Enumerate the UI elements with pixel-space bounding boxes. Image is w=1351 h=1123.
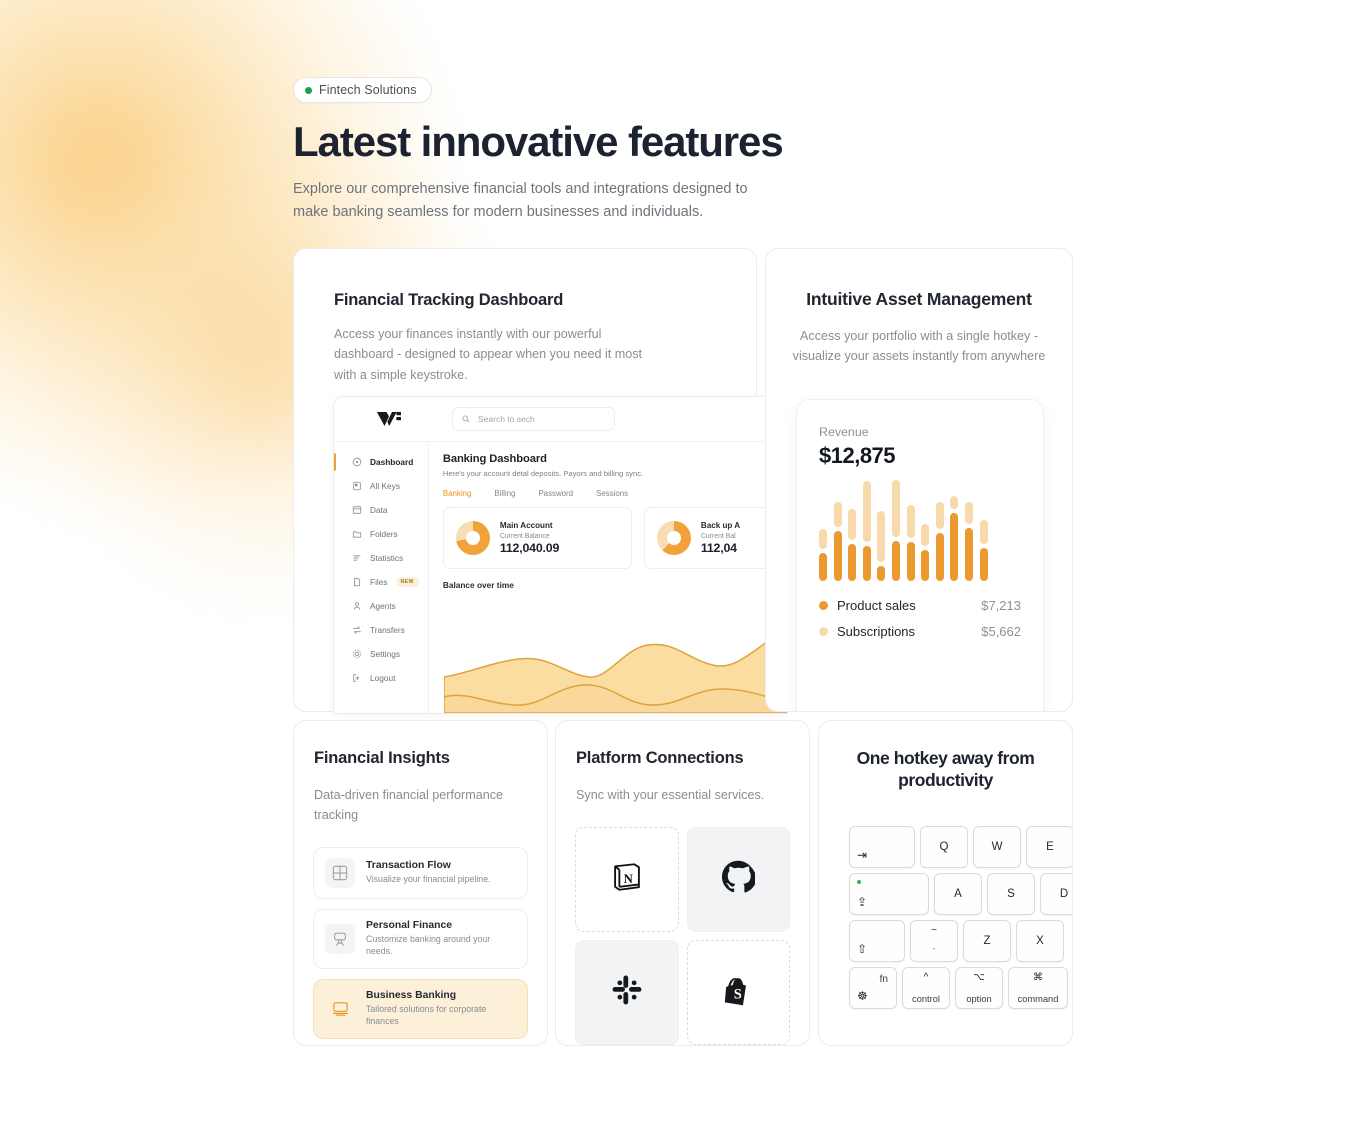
card2-subtitle: Access your portfolio with a single hotk… bbox=[788, 326, 1050, 367]
card2-title: Intuitive Asset Management bbox=[788, 289, 1050, 310]
key-z[interactable]: Z bbox=[963, 920, 1011, 962]
bar-column bbox=[863, 489, 871, 581]
monitor-icon bbox=[325, 994, 355, 1024]
legend-row-product-sales: Product sales $7,213 bbox=[819, 598, 1021, 613]
dashboard-icon bbox=[352, 457, 362, 467]
card-intuitive-asset-management: Intuitive Asset Management Access your p… bbox=[765, 248, 1073, 712]
account-balance-label: Current Bal bbox=[701, 533, 740, 540]
list-item-title: Personal Finance bbox=[366, 920, 516, 931]
key-label: D bbox=[1060, 888, 1068, 900]
bar-column bbox=[834, 489, 842, 581]
card3-title: Financial Insights bbox=[314, 749, 527, 768]
bar-segment-subscriptions bbox=[950, 496, 958, 509]
list-item-title: Transaction Flow bbox=[366, 860, 491, 871]
user-icon bbox=[325, 924, 355, 954]
chart-legend: Product sales $7,213 Subscriptions $5,66… bbox=[819, 598, 1021, 639]
bar-segment-subscriptions bbox=[980, 520, 988, 544]
key-label: control bbox=[903, 994, 949, 1004]
key-label: W bbox=[992, 841, 1003, 853]
bar-segment-product-sales bbox=[936, 533, 944, 581]
bar-column bbox=[965, 489, 973, 581]
tab-arrow-icon: ⇥ bbox=[857, 848, 867, 862]
capslock-key[interactable]: ⇪ bbox=[849, 873, 929, 915]
revenue-value: $12,875 bbox=[819, 443, 1021, 469]
sidebar-label: Settings bbox=[370, 649, 400, 659]
legend-value: $7,213 bbox=[981, 598, 1021, 613]
legend-label: Product sales bbox=[837, 598, 916, 613]
key-q[interactable]: Q bbox=[920, 826, 968, 868]
donut-chart-icon bbox=[657, 521, 691, 555]
sidebar-label: All Keys bbox=[370, 481, 400, 491]
bar-column bbox=[921, 489, 929, 581]
tile-notion[interactable]: N bbox=[575, 827, 679, 932]
fn-key[interactable]: fn ☸ bbox=[849, 967, 897, 1009]
sidebar-label: Files bbox=[370, 577, 388, 587]
account-cards: Main Account Current Balance 112,040.09 … bbox=[443, 507, 788, 569]
list-item-transaction-flow[interactable]: Transaction Flow Visualize your financia… bbox=[313, 847, 528, 899]
bar-segment-subscriptions bbox=[892, 480, 900, 537]
donut-chart-icon bbox=[456, 521, 490, 555]
card4-subtitle: Sync with your essential services. bbox=[576, 785, 789, 805]
notion-logo-icon: N bbox=[610, 860, 644, 899]
revenue-label: Revenue bbox=[819, 425, 1021, 439]
agents-icon bbox=[352, 601, 362, 611]
bar-segment-product-sales bbox=[877, 566, 885, 581]
key-s[interactable]: S bbox=[987, 873, 1035, 915]
data-icon bbox=[352, 505, 362, 515]
bar-segment-subscriptions bbox=[863, 481, 871, 542]
key-x[interactable]: X bbox=[1016, 920, 1064, 962]
keyboard-row-2: ⇪ A S D bbox=[849, 873, 1073, 915]
tab-banking[interactable]: Banking bbox=[443, 489, 472, 498]
status-dot-icon bbox=[305, 87, 312, 94]
account-balance-value: 112,040.09 bbox=[500, 541, 559, 555]
grid-icon bbox=[325, 858, 355, 888]
mockup-tabs: Banking Billing Password Sessions bbox=[443, 489, 788, 498]
card3-header: Financial Insights Data-driven financial… bbox=[294, 721, 547, 826]
revenue-panel: Revenue $12,875 Product sales $7,213 Sub… bbox=[796, 399, 1044, 712]
capslock-arrow-icon: ⇪ bbox=[857, 895, 867, 909]
globe-icon: ☸ bbox=[857, 989, 868, 1003]
bar-segment-product-sales bbox=[819, 553, 827, 581]
insights-list: Transaction Flow Visualize your financia… bbox=[294, 847, 547, 1039]
bar-segment-product-sales bbox=[907, 542, 915, 581]
page-root: Fintech Solutions Latest innovative feat… bbox=[0, 0, 1351, 1123]
shift-key[interactable]: ⇧ bbox=[849, 920, 905, 962]
search-input[interactable]: Search to sech bbox=[452, 407, 615, 431]
keyboard-row-1: ⇥ Q W E bbox=[849, 826, 1073, 868]
keys-icon bbox=[352, 481, 362, 491]
dashboard-mockup: Search to sech Dashboard All Keys bbox=[333, 396, 788, 714]
shift-arrow-icon: ⇧ bbox=[857, 942, 867, 956]
shopify-logo-icon: S bbox=[721, 973, 755, 1012]
mockup-sidebar: Dashboard All Keys Data bbox=[334, 442, 429, 714]
keyboard: ⇥ Q W E ⇪ A S D ⇧ ~ ` Z bbox=[849, 826, 1073, 1014]
bar-column bbox=[877, 489, 885, 581]
tab-billing[interactable]: Billing bbox=[494, 489, 515, 498]
list-item-desc: Customize banking around your needs. bbox=[366, 933, 516, 958]
mockup-search-area: Search to sech bbox=[444, 407, 787, 431]
tile-shopify[interactable]: S bbox=[687, 940, 791, 1045]
logout-icon bbox=[352, 673, 362, 683]
list-item-desc: Visualize your financial pipeline. bbox=[366, 873, 491, 885]
control-key[interactable]: ^ control bbox=[902, 967, 950, 1009]
command-key[interactable]: ⌘ command bbox=[1008, 967, 1068, 1009]
balance-chart-label: Balance over time bbox=[443, 580, 788, 590]
sidebar-label: Transfers bbox=[370, 625, 405, 635]
sidebar-item-all-keys[interactable]: All Keys bbox=[334, 474, 428, 498]
bar-segment-product-sales bbox=[834, 531, 842, 581]
transfers-icon bbox=[352, 625, 362, 635]
page-subtitle: Explore our comprehensive financial tool… bbox=[293, 178, 753, 223]
page-header: Fintech Solutions Latest innovative feat… bbox=[293, 77, 1093, 223]
bar-column bbox=[848, 489, 856, 581]
svg-text:N: N bbox=[623, 872, 633, 886]
key-label-top: ~ bbox=[911, 925, 957, 936]
mockup-description: Here's your account detal deposits. Payo… bbox=[443, 469, 788, 478]
mockup-heading: Banking Dashboard bbox=[443, 453, 788, 465]
tile-slack[interactable] bbox=[575, 940, 679, 1045]
card5-title: One hotkey away from productivity bbox=[819, 747, 1072, 792]
page-title: Latest innovative features bbox=[293, 119, 1093, 164]
key-label: E bbox=[1046, 841, 1054, 853]
bar-segment-product-sales bbox=[848, 544, 856, 581]
bar-column bbox=[980, 489, 988, 581]
key-label: X bbox=[1036, 935, 1044, 947]
card-financial-insights: Financial Insights Data-driven financial… bbox=[293, 720, 548, 1046]
bar-segment-product-sales bbox=[863, 546, 871, 581]
control-caret-icon: ^ bbox=[903, 972, 949, 983]
app-logo-icon bbox=[334, 411, 444, 427]
key-label: option bbox=[956, 994, 1002, 1004]
bar-column bbox=[892, 489, 900, 581]
account-card-main[interactable]: Main Account Current Balance 112,040.09 bbox=[443, 507, 632, 569]
key-label: Z bbox=[983, 935, 990, 947]
bar-segment-subscriptions bbox=[965, 502, 973, 524]
sidebar-item-dashboard[interactable]: Dashboard bbox=[334, 450, 428, 474]
bar-column bbox=[907, 489, 915, 581]
settings-icon bbox=[352, 649, 362, 659]
sidebar-label: Statistics bbox=[370, 553, 403, 563]
slack-logo-icon bbox=[610, 973, 644, 1012]
legend-dot-icon bbox=[819, 627, 828, 636]
account-name: Main Account bbox=[500, 521, 559, 530]
account-name: Back up A bbox=[701, 521, 740, 530]
tab-sessions[interactable]: Sessions bbox=[596, 489, 628, 498]
legend-label: Subscriptions bbox=[837, 624, 915, 639]
statistics-icon bbox=[352, 553, 362, 563]
key-label: A bbox=[954, 888, 962, 900]
key-e[interactable]: E bbox=[1026, 826, 1073, 868]
keyboard-row-3: ⇧ ~ ` Z X bbox=[849, 920, 1073, 962]
bar-segment-subscriptions bbox=[907, 505, 915, 538]
bar-segment-subscriptions bbox=[834, 502, 842, 528]
svg-text:S: S bbox=[734, 987, 742, 1003]
account-balance-value: 112,04 bbox=[701, 541, 740, 555]
sidebar-item-transfers[interactable]: Transfers bbox=[334, 618, 428, 642]
bar-segment-product-sales bbox=[921, 550, 929, 581]
key-label: S bbox=[1007, 888, 1015, 900]
tile-github[interactable] bbox=[687, 827, 791, 932]
list-item-business-banking[interactable]: Business Banking Tailored solutions for … bbox=[313, 979, 528, 1039]
tab-key[interactable]: ⇥ bbox=[849, 826, 915, 868]
sidebar-item-statistics[interactable]: Statistics bbox=[334, 546, 428, 570]
bar-column bbox=[936, 489, 944, 581]
category-badge: Fintech Solutions bbox=[293, 77, 432, 103]
key-label-fn: fn bbox=[880, 974, 888, 985]
status-badge: NEW bbox=[396, 577, 419, 587]
sidebar-label: Dashboard bbox=[370, 457, 413, 467]
mockup-topbar: Search to sech bbox=[334, 397, 787, 442]
list-item-title: Business Banking bbox=[366, 990, 516, 1001]
bar-segment-subscriptions bbox=[877, 511, 885, 563]
sidebar-item-agents[interactable]: Agents bbox=[334, 594, 428, 618]
key-d[interactable]: D bbox=[1040, 873, 1073, 915]
key-label: command bbox=[1009, 994, 1067, 1004]
card-hotkey-keyboard: One hotkey away from productivity ⇥ Q W … bbox=[818, 720, 1073, 1046]
list-item-personal-finance[interactable]: Personal Finance Customize banking aroun… bbox=[313, 909, 528, 969]
sidebar-label: Logout bbox=[370, 673, 395, 683]
card1-title: Financial Tracking Dashboard bbox=[334, 291, 716, 310]
revenue-bar-chart bbox=[819, 489, 1021, 581]
search-placeholder-text: Search to sech bbox=[478, 414, 535, 424]
capslock-indicator-icon bbox=[857, 880, 861, 884]
card3-subtitle: Data-driven financial performance tracki… bbox=[314, 785, 527, 826]
tab-password[interactable]: Password bbox=[538, 489, 573, 498]
bar-segment-product-sales bbox=[950, 513, 958, 581]
file-icon bbox=[352, 577, 362, 587]
sidebar-label: Data bbox=[370, 505, 388, 515]
card2-header: Intuitive Asset Management Access your p… bbox=[766, 249, 1072, 367]
bar-segment-product-sales bbox=[965, 528, 973, 581]
command-glyph-icon: ⌘ bbox=[1009, 972, 1067, 983]
bar-segment-subscriptions bbox=[848, 509, 856, 540]
sidebar-item-folders[interactable]: Folders bbox=[334, 522, 428, 546]
sidebar-item-settings[interactable]: Settings bbox=[334, 642, 428, 666]
card4-header: Platform Connections Sync with your esse… bbox=[556, 721, 809, 805]
sidebar-item-logout[interactable]: Logout bbox=[334, 666, 428, 690]
key-label: Q bbox=[940, 841, 949, 853]
folder-icon bbox=[352, 529, 362, 539]
bar-segment-product-sales bbox=[892, 541, 900, 581]
bar-segment-product-sales bbox=[980, 548, 988, 581]
integration-tiles: N bbox=[556, 827, 809, 1045]
option-glyph-icon: ⌥ bbox=[956, 972, 1002, 983]
bar-segment-subscriptions bbox=[819, 529, 827, 549]
account-balance-label: Current Balance bbox=[500, 533, 559, 540]
bar-segment-subscriptions bbox=[936, 502, 944, 530]
sidebar-item-files[interactable]: Files NEW bbox=[334, 570, 428, 594]
search-icon bbox=[462, 415, 470, 423]
list-item-desc: Tailored solutions for corporate finance… bbox=[366, 1003, 516, 1028]
sidebar-item-data[interactable]: Data bbox=[334, 498, 428, 522]
sidebar-label: Agents bbox=[370, 601, 396, 611]
github-logo-icon bbox=[721, 860, 755, 899]
card-platform-connections: Platform Connections Sync with your esse… bbox=[555, 720, 810, 1046]
bar-column bbox=[819, 489, 827, 581]
bar-segment-subscriptions bbox=[921, 524, 929, 546]
legend-row-subscriptions: Subscriptions $5,662 bbox=[819, 624, 1021, 639]
key-w[interactable]: W bbox=[973, 826, 1021, 868]
card1-header: Financial Tracking Dashboard Access your… bbox=[294, 249, 756, 385]
card4-title: Platform Connections bbox=[576, 749, 789, 768]
key-a[interactable]: A bbox=[934, 873, 982, 915]
option-key[interactable]: ⌥ option bbox=[955, 967, 1003, 1009]
keyboard-row-4: fn ☸ ^ control ⌥ option ⌘ command bbox=[849, 967, 1073, 1009]
bar-column bbox=[950, 489, 958, 581]
sidebar-label: Folders bbox=[370, 529, 398, 539]
category-badge-label: Fintech Solutions bbox=[319, 83, 417, 97]
balance-area-chart bbox=[444, 615, 787, 713]
key-tilde[interactable]: ~ ` bbox=[910, 920, 958, 962]
card1-subtitle: Access your finances instantly with our … bbox=[334, 324, 649, 385]
legend-dot-icon bbox=[819, 601, 828, 610]
key-label-bottom: ` bbox=[911, 947, 957, 957]
legend-value: $5,662 bbox=[981, 624, 1021, 639]
